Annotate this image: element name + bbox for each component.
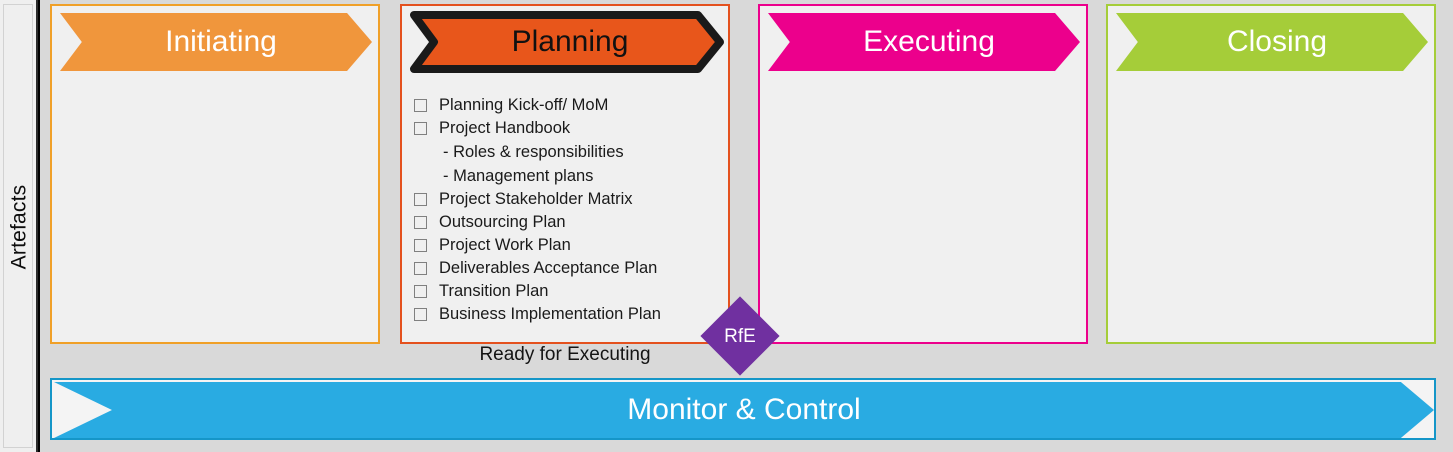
monitor-control-label: Monitor & Control [627, 395, 860, 425]
checkbox-icon[interactable] [414, 193, 427, 206]
phase-title-executing: Executing [853, 27, 995, 57]
checklist-subitem-label: - Roles & responsibilities [443, 143, 624, 162]
checklist-subitem: - Roles & responsibilities [414, 140, 714, 164]
checklist-item[interactable]: Business Implementation Plan [414, 303, 714, 326]
checkbox-icon[interactable] [414, 262, 427, 275]
checklist-item-label: Deliverables Acceptance Plan [439, 259, 657, 278]
planning-title-wrap: Planning [406, 9, 726, 75]
monitor-control-frame[interactable]: Monitor & Control [50, 378, 1436, 440]
phase-column-closing[interactable]: Closing [1106, 4, 1436, 344]
checklist-item[interactable]: Transition Plan [414, 280, 714, 303]
checklist-subitem: - Management plans [414, 164, 714, 188]
phases-canvas: Initiating Planning Planning Kick-off/ M… [40, 0, 1453, 452]
checkbox-icon[interactable] [414, 308, 427, 321]
gate-caption: Ready for Executing [400, 344, 730, 366]
checklist-item[interactable]: Project Handbook [414, 117, 714, 140]
planning-checklist: Planning Kick-off/ MoM Project Handbook … [414, 94, 714, 326]
checkbox-icon[interactable] [414, 216, 427, 229]
checkbox-icon[interactable] [414, 99, 427, 112]
process-diagram: Artefacts Initiating Planning [0, 0, 1453, 452]
phase-column-executing[interactable]: Executing [758, 4, 1088, 344]
phase-title-planning: Planning [504, 27, 629, 57]
phase-title-initiating: Initiating [155, 27, 277, 57]
artefacts-rail: Artefacts [0, 0, 38, 452]
checklist-item-label: Transition Plan [439, 282, 548, 301]
checklist-item[interactable]: Outsourcing Plan [414, 211, 714, 234]
phase-column-planning[interactable]: Planning Planning Kick-off/ MoM Project … [400, 4, 730, 344]
checklist-item[interactable]: Project Work Plan [414, 234, 714, 257]
checklist-item-label: Business Implementation Plan [439, 305, 661, 324]
checklist-subitem-label: - Management plans [443, 167, 593, 186]
monitor-control-arrow: Monitor & Control [54, 382, 1434, 438]
checklist-item-label: Project Work Plan [439, 236, 571, 255]
artefacts-label: Artefacts [4, 5, 34, 449]
phase-header-executing: Executing [768, 13, 1080, 71]
checklist-item-label: Project Stakeholder Matrix [439, 190, 633, 209]
phase-column-initiating[interactable]: Initiating [50, 4, 380, 344]
phase-header-planning: Planning [406, 9, 726, 75]
checklist-item[interactable]: Planning Kick-off/ MoM [414, 94, 714, 117]
artefacts-rail-inner: Artefacts [3, 4, 33, 448]
checklist-item[interactable]: Deliverables Acceptance Plan [414, 257, 714, 280]
checkbox-icon[interactable] [414, 239, 427, 252]
checklist-item-label: Project Handbook [439, 119, 570, 138]
checklist-item-label: Outsourcing Plan [439, 213, 566, 232]
checklist-item-label: Planning Kick-off/ MoM [439, 96, 608, 115]
checkbox-icon[interactable] [414, 285, 427, 298]
phase-title-closing: Closing [1217, 27, 1327, 57]
phase-header-initiating: Initiating [60, 13, 372, 71]
artefacts-label-text: Artefacts [7, 185, 31, 270]
phase-header-closing: Closing [1116, 13, 1428, 71]
checkbox-icon[interactable] [414, 122, 427, 135]
checklist-item[interactable]: Project Stakeholder Matrix [414, 188, 714, 211]
